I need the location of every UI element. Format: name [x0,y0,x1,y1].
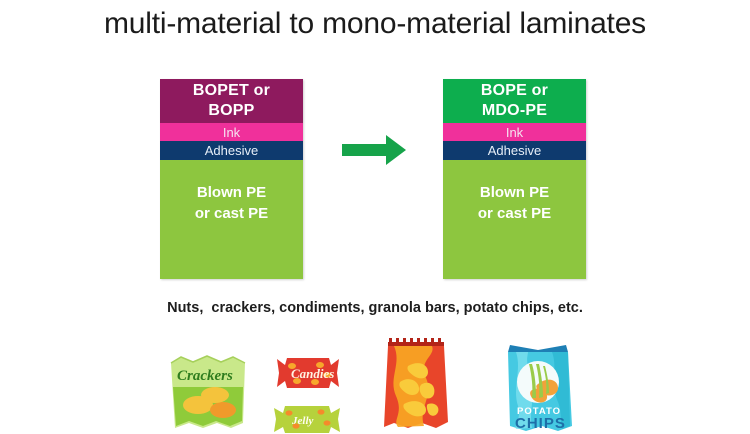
laminate-stack-multi-material: BOPET or BOPP Ink Adhesive Blown PE or c… [160,79,303,279]
layer-ink-left-label: Ink [223,125,240,140]
layer-outer-web-left-line2: BOPP [193,101,270,121]
laminate-stack-mono-material: BOPE or MDO-PE Ink Adhesive Blown PE or … [443,79,586,279]
layer-outer-web-right-line2: MDO-PE [481,101,548,121]
transition-arrow-icon [340,132,410,168]
potato-chips-pack-image: POTATO CHIPS [502,340,574,432]
slide-canvas: multi-material to mono-material laminate… [0,0,750,430]
layer-adhesive-right-label: Adhesive [488,143,541,158]
jelly-pack-label: Jelly [291,415,313,427]
layer-outer-web-left: BOPET or BOPP [160,79,303,123]
layer-outer-web-right: BOPE or MDO-PE [443,79,586,123]
layer-sealant-right-line2: or cast PE [478,203,551,224]
layer-adhesive-right: Adhesive [443,141,586,160]
layer-sealant-right: Blown PE or cast PE [443,160,586,279]
layer-outer-web-left-line1: BOPET or [193,81,270,101]
crackers-pack-label: Crackers [177,368,233,384]
potato-chips-label-line2: CHIPS [515,415,566,432]
layer-ink-right: Ink [443,123,586,141]
crackers-pack-image: Crackers [163,353,253,430]
layer-outer-web-right-line1: BOPE or [481,81,548,101]
layer-sealant-left: Blown PE or cast PE [160,160,303,279]
layer-sealant-right-line1: Blown PE [478,182,551,203]
applications-caption: Nuts, crackers, condiments, granola bars… [0,300,750,316]
layer-ink-left: Ink [160,123,303,141]
candies-pack-label: Candies [291,366,334,381]
candies-pack-image: Candies [275,355,341,391]
layer-sealant-left-line2: or cast PE [195,203,268,224]
layer-ink-right-label: Ink [506,125,523,140]
snack-pack-image [378,338,454,430]
layer-adhesive-left: Adhesive [160,141,303,160]
layer-sealant-left-line1: Blown PE [195,182,268,203]
layer-adhesive-left-label: Adhesive [205,143,258,158]
page-title: multi-material to mono-material laminate… [0,6,750,42]
